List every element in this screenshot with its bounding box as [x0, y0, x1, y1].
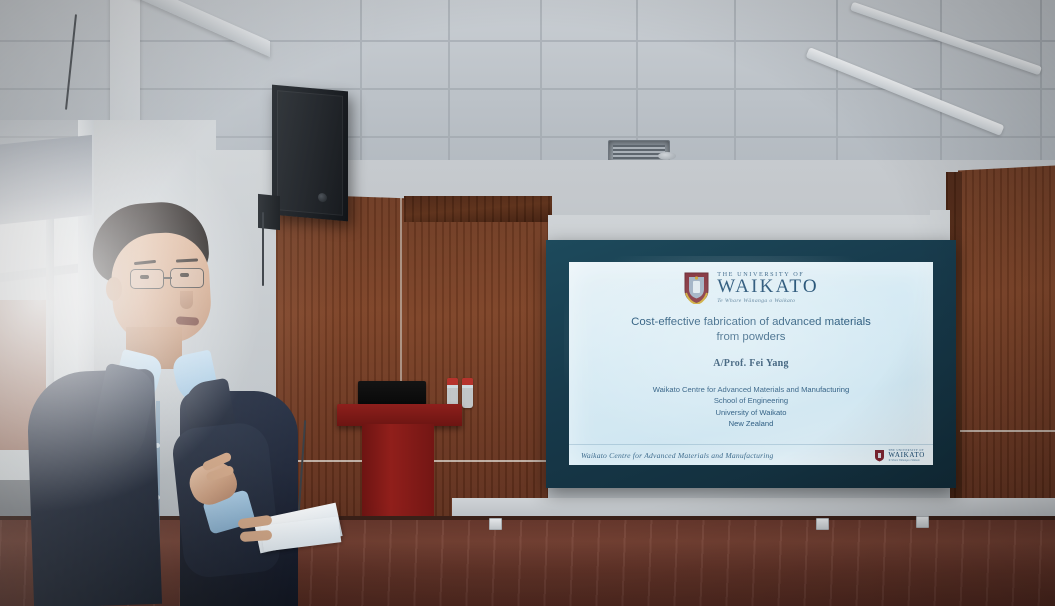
smoke-detector-icon	[658, 152, 676, 160]
slide-footer-text: Waikato Centre for Advanced Materials an…	[581, 451, 774, 460]
affiliation-line-3: New Zealand	[653, 418, 849, 429]
glasses-lens-right	[170, 268, 204, 288]
presenter-eye-right	[180, 273, 189, 277]
footer-logo-motto: Te Whare Wānanga o Waikato	[888, 459, 925, 462]
slide-title-line1: Cost-effective fabrication of advanced m…	[584, 315, 919, 330]
confidence-monitor	[358, 381, 426, 405]
waikato-crest-icon	[683, 271, 710, 304]
presenter-ear	[106, 277, 122, 301]
university-logo: THE UNIVERSITY OF WAIKATO Te Whare Wānan…	[683, 271, 819, 304]
presentation-slide: THE UNIVERSITY OF WAIKATO Te Whare Wānan…	[569, 262, 933, 465]
wood-header-trim	[404, 196, 552, 222]
slide-author: A/Prof. Fei Yang	[713, 358, 789, 369]
presenter-nose	[180, 291, 193, 309]
slide-title: Cost-effective fabrication of advanced m…	[584, 315, 919, 345]
glasses-bridge	[164, 277, 172, 279]
university-motto: Te Whare Wānanga o Waikato	[717, 298, 795, 304]
slide-footer: Waikato Centre for Advanced Materials an…	[569, 444, 933, 465]
power-outlet-1	[489, 518, 502, 530]
glasses-lens-left	[130, 269, 164, 289]
panel-seam-3	[960, 430, 1055, 432]
university-wordmark: THE UNIVERSITY OF WAIKATO Te Whare Wānan…	[717, 271, 819, 304]
presenter	[30, 195, 320, 606]
affiliation-line-2: University of Waikato	[653, 407, 849, 418]
lectern-top	[337, 404, 462, 426]
presenter-eye-left	[140, 275, 149, 279]
presenter-mouth	[176, 316, 200, 326]
affiliation-line-0: Waikato Centre for Advanced Materials an…	[653, 384, 849, 395]
presentation-room-photo: THE UNIVERSITY OF WAIKATO Te Whare Wānan…	[0, 0, 1055, 606]
power-outlet-3	[916, 516, 929, 528]
university-name: WAIKATO	[717, 278, 819, 297]
footer-logo-name: WAIKATO	[888, 452, 925, 459]
slide-title-line2: from powders	[584, 330, 919, 345]
wood-panel-right	[958, 165, 1055, 532]
power-outlet-2	[816, 518, 829, 530]
projection-screen: THE UNIVERSITY OF WAIKATO Te Whare Wānan…	[546, 240, 956, 488]
footer-logo-text: THE UNIVERSITY OF WAIKATO Te Whare Wānan…	[888, 449, 925, 462]
slide-affiliation: Waikato Centre for Advanced Materials an…	[653, 384, 849, 430]
affiliation-line-1: School of Engineering	[653, 395, 849, 406]
waikato-crest-small-icon	[874, 449, 885, 462]
water-bottle-2	[462, 378, 473, 408]
slide-footer-logo: THE UNIVERSITY OF WAIKATO Te Whare Wānan…	[874, 449, 925, 462]
